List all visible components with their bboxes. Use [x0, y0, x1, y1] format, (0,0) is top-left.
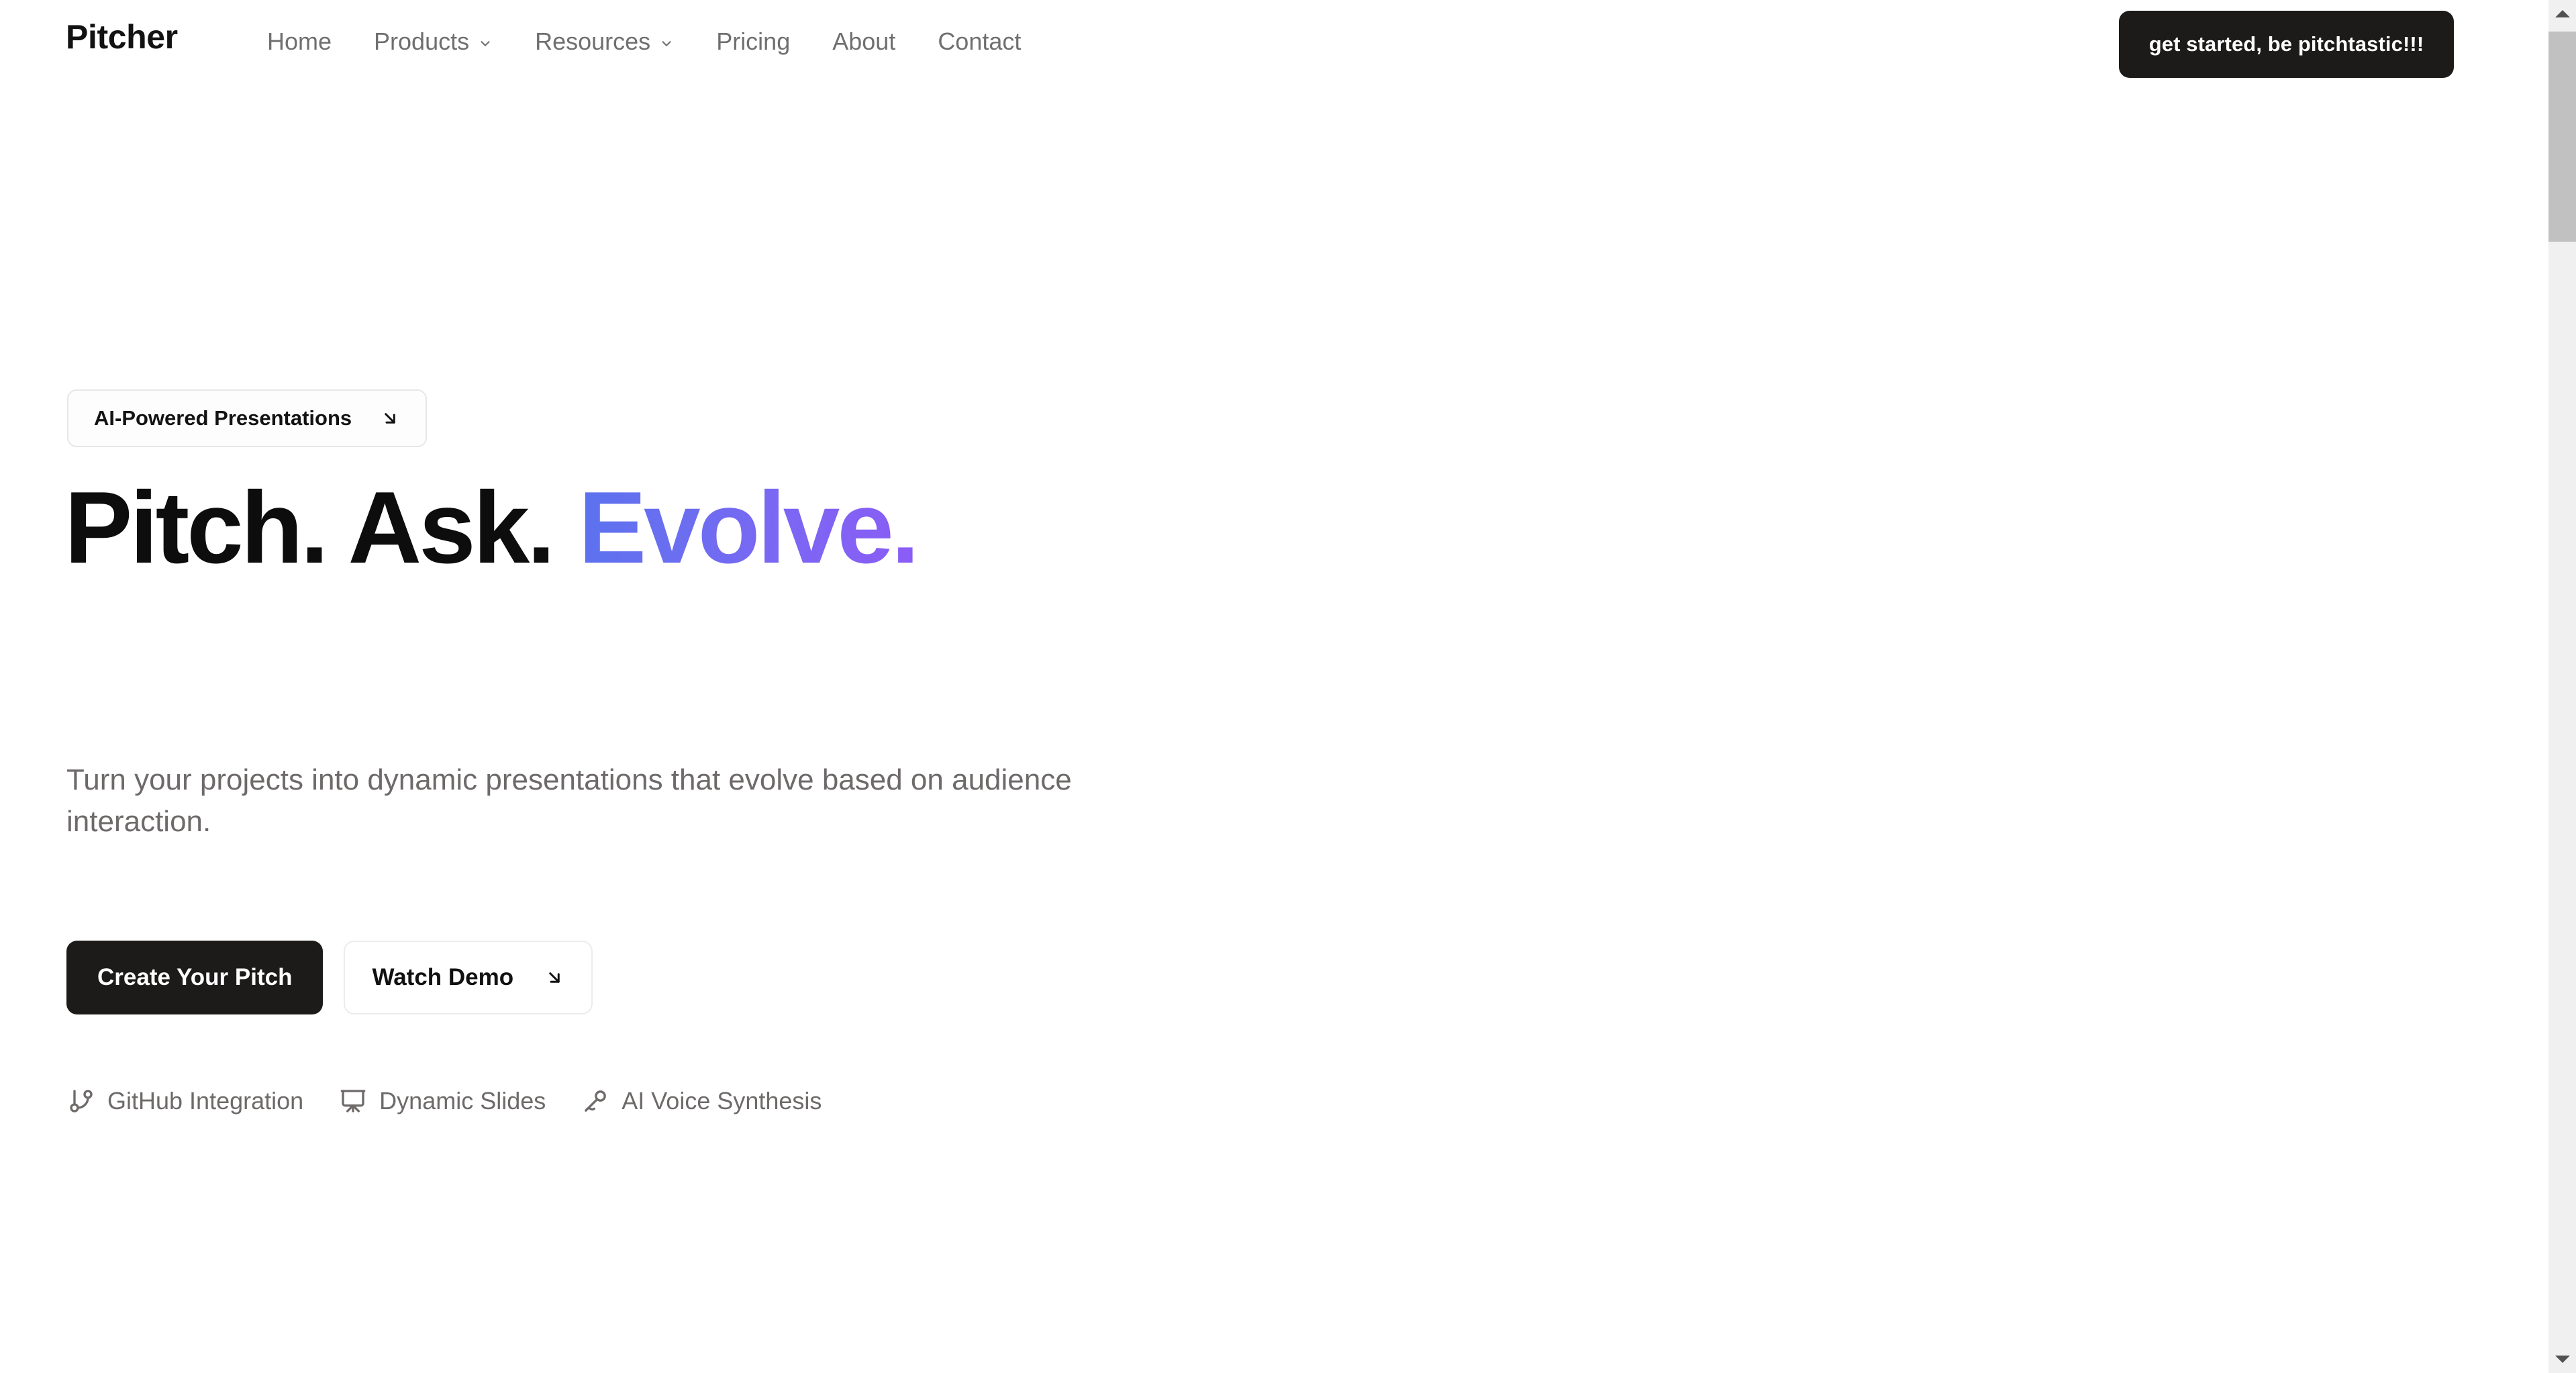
nav-item-label: Products — [374, 30, 469, 54]
hero-feature-list: GitHub Integration Dynamic Slides AI Voi… — [66, 1086, 822, 1116]
microphone-icon — [581, 1086, 610, 1116]
scroll-up-arrow-icon — [2555, 10, 2570, 17]
watch-demo-button[interactable]: Watch Demo — [344, 941, 593, 1014]
nav-item-about[interactable]: About — [832, 30, 895, 54]
hero-badge[interactable]: AI-Powered Presentations — [67, 389, 427, 447]
git-branch-icon — [66, 1086, 96, 1116]
headline-part-two: Evolve. — [579, 471, 917, 585]
nav-item-label: Contact — [938, 30, 1021, 54]
nav-item-label: Resources — [535, 30, 650, 54]
scrollbar-thumb[interactable] — [2548, 32, 2576, 242]
nav-item-label: About — [832, 30, 895, 54]
hero-subtitle: Turn your projects into dynamic presenta… — [66, 759, 1154, 843]
feature-label: Dynamic Slides — [379, 1087, 546, 1115]
primary-navigation: Home Products Resources Pricing — [267, 30, 1021, 54]
page-title: Pitch. Ask. Evolve. — [64, 474, 917, 582]
nav-item-pricing[interactable]: Pricing — [716, 30, 790, 54]
scroll-down-arrow-icon — [2555, 1356, 2570, 1363]
site-header: Pitcher Home Products Resources — [0, 0, 2548, 98]
nav-item-resources[interactable]: Resources — [535, 30, 674, 54]
feature-label: AI Voice Synthesis — [622, 1087, 822, 1115]
nav-item-label: Pricing — [716, 30, 790, 54]
arrow-down-right-icon — [544, 967, 564, 988]
nav-item-home[interactable]: Home — [267, 30, 332, 54]
watch-demo-label: Watch Demo — [372, 964, 513, 991]
feature-ai-voice-synthesis: AI Voice Synthesis — [581, 1086, 822, 1116]
scroll-down-button[interactable] — [2548, 1345, 2576, 1373]
hero-badge-label: AI-Powered Presentations — [94, 406, 352, 430]
chevron-down-icon — [478, 36, 493, 51]
presentation-icon — [338, 1086, 368, 1116]
feature-dynamic-slides: Dynamic Slides — [338, 1086, 546, 1116]
hero-button-row: Create Your Pitch Watch Demo — [66, 941, 593, 1014]
headline-part-one: Pitch. Ask. — [64, 471, 579, 585]
chevron-down-icon — [659, 36, 674, 51]
scroll-up-button[interactable] — [2548, 0, 2576, 28]
feature-github-integration: GitHub Integration — [66, 1086, 303, 1116]
get-started-button[interactable]: get started, be pitchtastic!!! — [2119, 11, 2454, 78]
nav-item-label: Home — [267, 30, 332, 54]
nav-item-products[interactable]: Products — [374, 30, 493, 54]
browser-page: Pitcher Home Products Resources — [0, 0, 2576, 1373]
vertical-scrollbar[interactable] — [2548, 0, 2576, 1373]
brand-logo[interactable]: Pitcher — [66, 20, 178, 54]
arrow-down-right-icon — [380, 408, 400, 428]
create-your-pitch-button[interactable]: Create Your Pitch — [66, 941, 323, 1014]
nav-item-contact[interactable]: Contact — [938, 30, 1021, 54]
page-viewport: Pitcher Home Products Resources — [0, 0, 2548, 1373]
feature-label: GitHub Integration — [107, 1087, 303, 1115]
